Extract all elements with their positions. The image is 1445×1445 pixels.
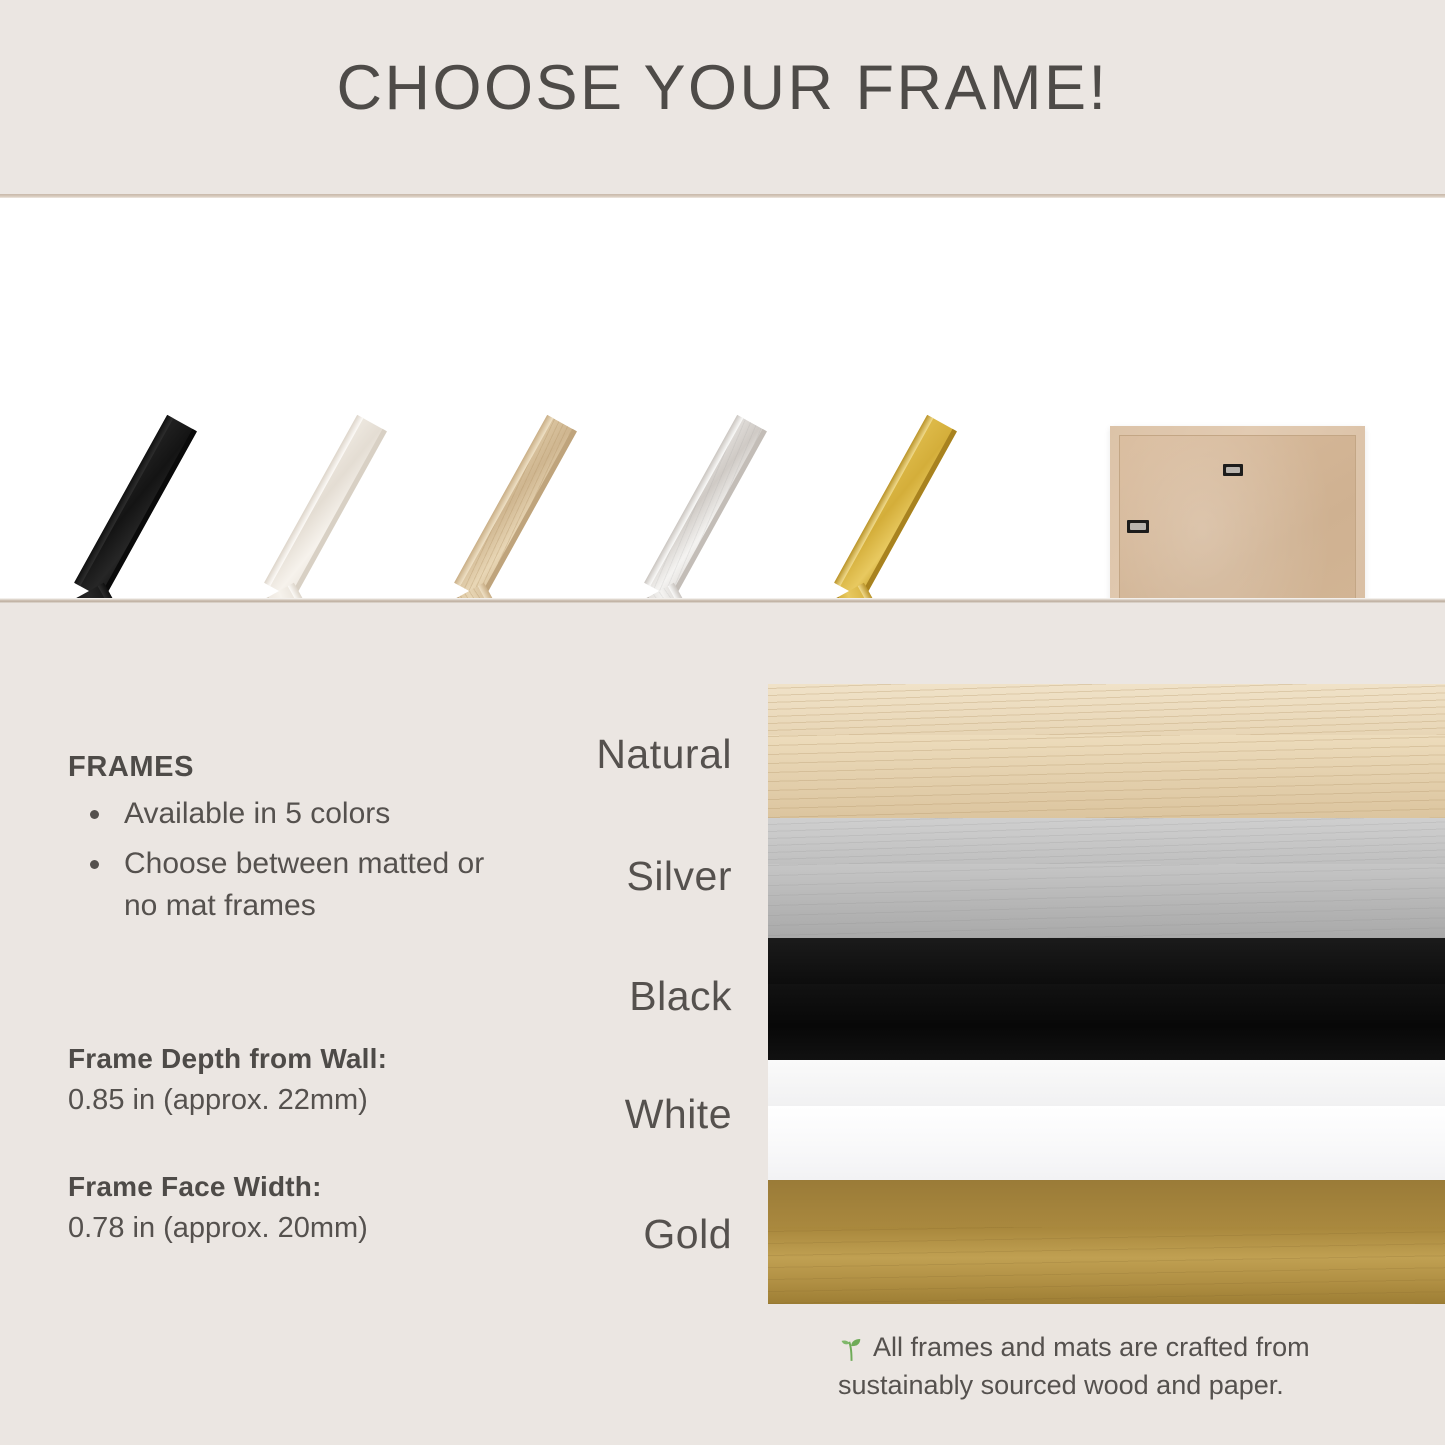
color-label-natural: Natural: [392, 731, 732, 778]
bullet-dot-icon: [90, 810, 99, 819]
eco-note-text: All frames and mats are crafted from sus…: [838, 1332, 1310, 1400]
sprout-icon: [838, 1334, 864, 1362]
moulding-strip-silver[interactable]: [768, 818, 1445, 938]
bullet-dot-icon: [90, 860, 99, 869]
frame-product-infographic: CHOOSE YOUR FRAME!: [0, 0, 1445, 1445]
color-label-white: White: [392, 1091, 732, 1138]
chevron-arm-upper: [454, 415, 577, 599]
hanging-hardware-icon: [1223, 464, 1243, 476]
spec-label: Frame Depth from Wall:: [68, 1043, 528, 1075]
moulding-strip-black[interactable]: [768, 938, 1445, 1060]
chevron-arm-upper: [644, 415, 767, 599]
chevron-arm-upper: [264, 415, 387, 599]
strip-front-face: [768, 864, 1445, 938]
strip-front-face: [768, 735, 1445, 818]
list-item-label: Available in 5 colors: [124, 797, 390, 830]
moulding-strip-natural[interactable]: [768, 684, 1445, 818]
header-band: CHOOSE YOUR FRAME!: [0, 0, 1445, 194]
frame-corner-showcase: [0, 198, 1445, 600]
moulding-strip-white[interactable]: [768, 1060, 1445, 1180]
strip-front-face: [768, 984, 1445, 1060]
eco-note: All frames and mats are crafted from sus…: [838, 1328, 1398, 1405]
hanging-hardware-icon: [1127, 520, 1149, 533]
strip-top-face: [768, 1180, 1445, 1227]
spec-label: Frame Face Width:: [68, 1171, 528, 1203]
strip-top-face: [768, 818, 1445, 864]
strip-top-face: [768, 684, 1445, 735]
color-label-silver: Silver: [392, 853, 732, 900]
strip-top-face: [768, 938, 1445, 984]
chevron-arm-upper: [834, 415, 957, 599]
moulding-strip-gold[interactable]: [768, 1180, 1445, 1304]
color-label-black: Black: [392, 973, 732, 1020]
list-item: Available in 5 colors: [68, 793, 508, 834]
strip-front-face: [768, 1227, 1445, 1304]
strip-front-face: [768, 1106, 1445, 1180]
chevron-arm-upper: [74, 415, 197, 599]
page-title: CHOOSE YOUR FRAME!: [0, 52, 1445, 124]
strip-top-face: [768, 1060, 1445, 1106]
color-label-gold: Gold: [392, 1211, 732, 1258]
